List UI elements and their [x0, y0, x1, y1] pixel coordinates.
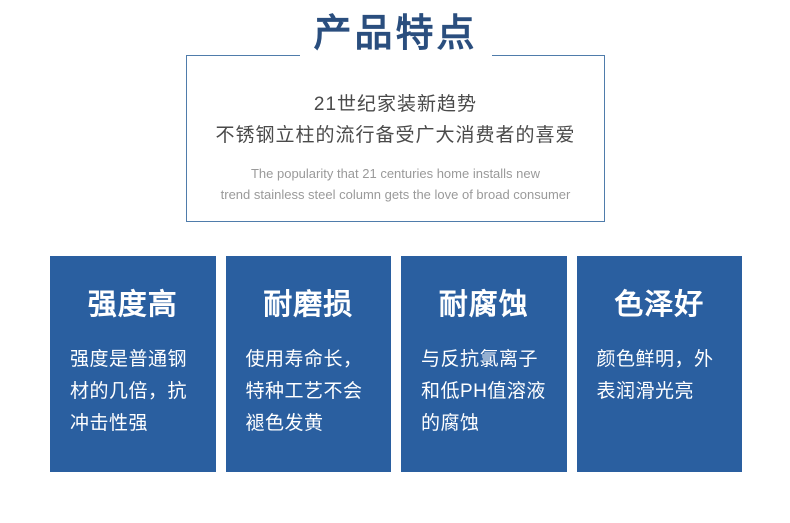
header-block: 产品特点 21世纪家装新趋势 不锈钢立柱的流行备受广大消费者的喜爱 The po… — [186, 55, 605, 222]
feature-card-description: 与反抗氯离子和低PH值溶液的腐蚀 — [421, 344, 547, 440]
feature-card-description: 使用寿命长，特种工艺不会褪色发黄 — [246, 344, 372, 440]
feature-card-title: 耐磨损 — [246, 290, 372, 322]
feature-card-title: 耐腐蚀 — [421, 290, 547, 322]
feature-card-description: 颜色鲜明，外表润滑光亮 — [597, 344, 723, 408]
feature-card-title: 强度高 — [70, 290, 196, 322]
feature-card-title: 色泽好 — [597, 290, 723, 322]
feature-card-corrosion-resistance: 耐腐蚀 与反抗氯离子和低PH值溶液的腐蚀 — [401, 256, 567, 472]
subtitle-cn-line2: 不锈钢立柱的流行备受广大消费者的喜爱 — [215, 120, 575, 151]
subtitle-en-line2: trend stainless steel column gets the lo… — [221, 184, 571, 205]
page-title: 产品特点 — [313, 15, 477, 53]
feature-card-description: 强度是普通钢材的几倍，抗冲击性强 — [70, 344, 196, 440]
header-text-group: 21世纪家装新趋势 不锈钢立柱的流行备受广大消费者的喜爱 The popular… — [186, 55, 605, 222]
subtitle-cn-line1: 21世纪家装新趋势 — [314, 89, 477, 120]
subtitle-en-line1: The popularity that 21 centuries home in… — [251, 163, 540, 184]
feature-card-strength: 强度高 强度是普通钢材的几倍，抗冲击性强 — [50, 256, 216, 472]
feature-card-list: 强度高 强度是普通钢材的几倍，抗冲击性强 耐磨损 使用寿命长，特种工艺不会褪色发… — [50, 256, 742, 472]
product-features-page: 产品特点 21世纪家装新趋势 不锈钢立柱的流行备受广大消费者的喜爱 The po… — [0, 0, 790, 523]
feature-card-color-quality: 色泽好 颜色鲜明，外表润滑光亮 — [577, 256, 743, 472]
feature-card-wear-resistance: 耐磨损 使用寿命长，特种工艺不会褪色发黄 — [226, 256, 392, 472]
